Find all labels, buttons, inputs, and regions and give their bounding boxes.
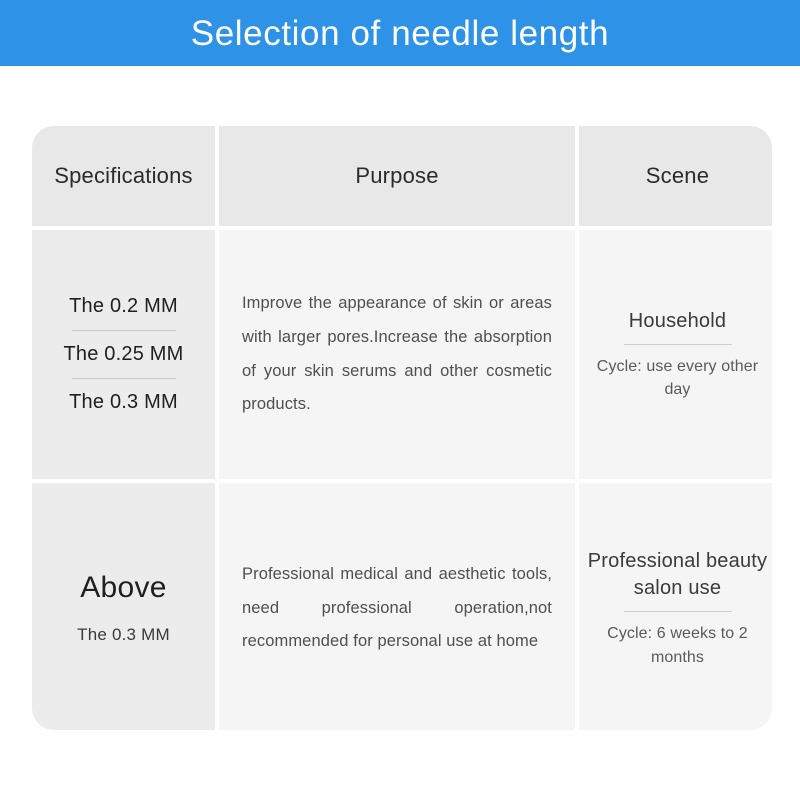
specification-list: The 0.2 MM The 0.25 MM The 0.3 MM: [42, 289, 205, 420]
table-row-2-specifications-cell: Above The 0.3 MM: [32, 483, 215, 730]
column-header-scene-label: Scene: [646, 163, 709, 189]
specification-item: The 0.25 MM: [63, 337, 183, 372]
specification-item: The 0.2 MM: [69, 289, 178, 324]
table-row-2-purpose-cell: Professional medical and aesthetic tools…: [219, 483, 575, 730]
scene-divider: [624, 611, 732, 612]
scene-cycle-text: Cycle: use every other day: [587, 355, 768, 401]
column-header-purpose: Purpose: [219, 126, 575, 226]
specification-item: The 0.3 MM: [69, 385, 178, 420]
scene-title: Professional beauty salon use: [587, 548, 768, 602]
scene-cycle-text: Cycle: 6 weeks to 2 months: [587, 622, 768, 668]
specification-divider: [72, 330, 176, 331]
table-row-1-purpose-cell: Improve the appearance of skin or areas …: [219, 230, 575, 479]
table-row-1-scene-cell: Household Cycle: use every other day: [579, 230, 772, 479]
page-banner: Selection of needle length: [0, 0, 800, 66]
column-header-specifications-label: Specifications: [54, 163, 193, 189]
specification-divider: [72, 378, 176, 379]
specification-list: Above The 0.3 MM: [42, 570, 205, 646]
specification-headline: Above: [80, 570, 167, 606]
specification-subline: The 0.3 MM: [77, 624, 170, 646]
needle-length-table: Specifications Purpose Scene The 0.2 MM …: [32, 126, 772, 730]
page-title: Selection of needle length: [191, 16, 609, 51]
table-row-1-specifications-cell: The 0.2 MM The 0.25 MM The 0.3 MM: [32, 230, 215, 479]
column-header-specifications: Specifications: [32, 126, 215, 226]
scene-block: Professional beauty salon use Cycle: 6 w…: [579, 548, 772, 668]
purpose-text: Improve the appearance of skin or areas …: [232, 287, 562, 422]
scene-divider: [624, 344, 732, 345]
column-header-scene: Scene: [579, 126, 772, 226]
scene-block: Household Cycle: use every other day: [579, 308, 772, 401]
column-header-purpose-label: Purpose: [355, 163, 438, 189]
scene-title: Household: [629, 308, 726, 335]
table-row-2-scene-cell: Professional beauty salon use Cycle: 6 w…: [579, 483, 772, 730]
purpose-text: Professional medical and aesthetic tools…: [232, 558, 562, 659]
